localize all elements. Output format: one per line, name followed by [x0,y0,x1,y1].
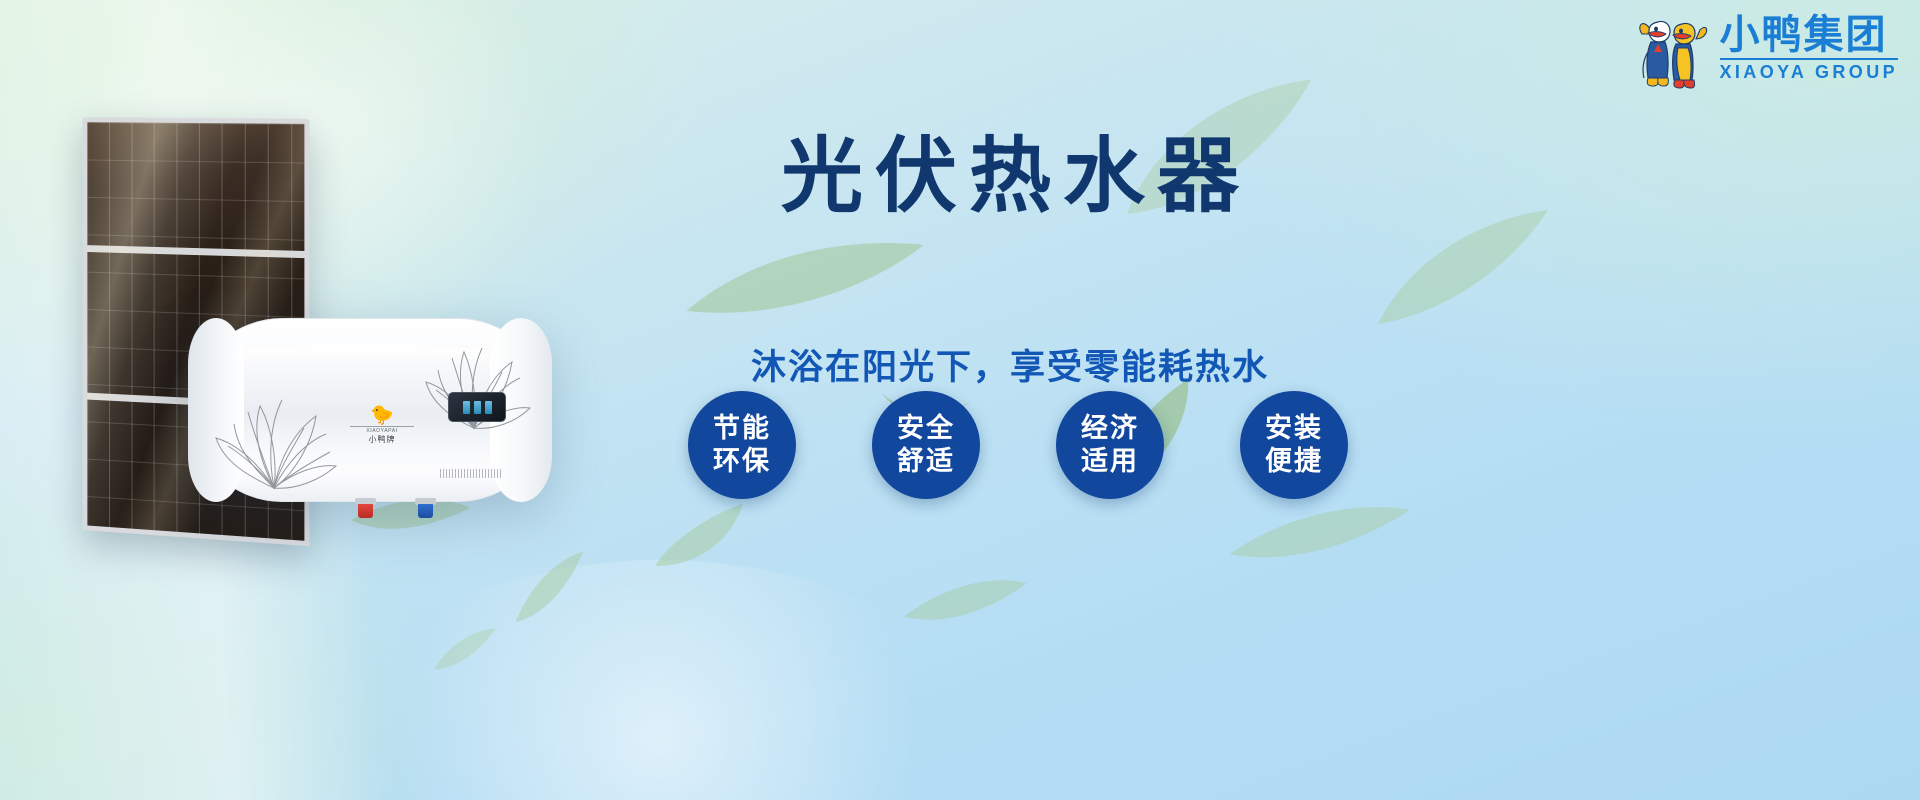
promo-banner: 🐤 XIAOYAPAI 小鸭牌 光伏热水器 沐浴在阳光下，享受零能耗热水 节能 … [0,0,1920,800]
badge-economical[interactable]: 经济 适用 [1056,391,1164,499]
badge-line1: 安装 [1265,412,1323,445]
badge-line2: 环保 [713,445,771,478]
digital-display-icon[interactable] [448,392,506,422]
heater-brandmark: 🐤 XIAOYAPAI 小鸭牌 [350,406,414,445]
badge-line2: 适用 [1081,445,1139,478]
badge-line1: 节能 [713,412,771,445]
logo-wordmark: 小鸭集团 XIAOYA GROUP [1720,15,1899,83]
badge-line1: 经济 [1081,412,1139,445]
badge-easy-install[interactable]: 安装 便捷 [1240,391,1348,499]
heater-label-strip [440,469,502,478]
logo-name-en: XIAOYA GROUP [1720,58,1899,83]
badge-line1: 安全 [897,412,955,445]
badge-safe-comfortable[interactable]: 安全 舒适 [872,391,980,499]
leaf-decoration-5 [1362,206,1565,331]
feature-badge-row: 节能 环保 安全 舒适 经济 适用 安装 便捷 [688,377,1348,512]
badge-line2: 便捷 [1265,445,1323,478]
two-ducks-icon [1634,8,1712,90]
leaf-decoration-11 [428,624,502,675]
badge-line2: 舒适 [897,445,955,478]
horizontal-water-heater: 🐤 XIAOYAPAI 小鸭牌 [190,318,550,502]
duck-icon: 🐤 [350,406,414,425]
page-title: 光伏热水器 [700,134,1320,221]
leaf-decoration-9 [498,548,602,631]
cold-water-inlet [418,498,433,518]
leaf-decoration-2 [683,209,926,350]
leaf-decoration-10 [901,559,1030,643]
heater-brand-en: XIAOYAPAI [350,426,414,434]
heater-brand-cn: 小鸭牌 [350,434,414,445]
heater-specular-highlight [230,344,498,368]
glow-decoration-bottom [340,560,980,800]
hot-water-outlet [358,498,373,518]
logo-name-cn: 小鸭集团 [1720,15,1888,55]
heater-end-cap-left [188,318,244,502]
badge-energy-saving[interactable]: 节能 环保 [688,391,796,499]
company-logo[interactable]: 小鸭集团 XIAOYA GROUP [1634,6,1899,92]
